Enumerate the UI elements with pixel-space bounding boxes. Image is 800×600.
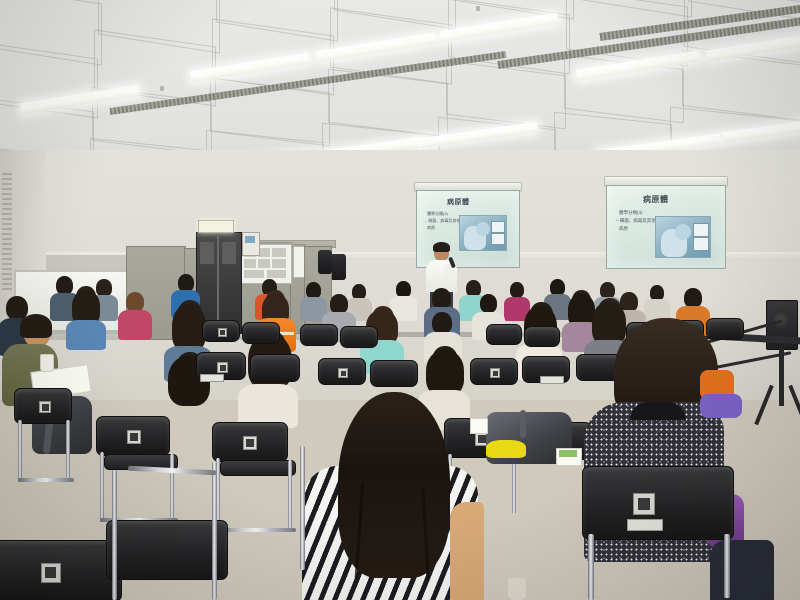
chair-back[interactable] (318, 358, 366, 385)
chair-back[interactable] (212, 422, 288, 462)
chair-back[interactable] (0, 540, 122, 600)
chair-leg (18, 420, 22, 482)
attendee-body (700, 394, 742, 418)
collar (630, 402, 686, 420)
left-slide-title: 病原體 (447, 197, 470, 207)
chair-back[interactable] (370, 360, 418, 387)
right-slide-line3: 病原 (619, 226, 628, 233)
attendee-tweed-sweater (584, 318, 774, 600)
chair-leg (588, 534, 594, 600)
door-window (222, 242, 236, 264)
paper-cup (508, 578, 526, 600)
seminar-room-photo: 病原體 體學分類(4) – 細菌、病毒及其他微生物感染性 病原 病原體 體學分類… (0, 0, 800, 600)
shoulder-skin (450, 502, 484, 600)
left-slide-image (459, 215, 507, 251)
control-panel-screen (245, 236, 255, 243)
chair-leg (212, 462, 217, 600)
chair-label-plate (200, 374, 224, 382)
chair-back[interactable] (106, 520, 228, 580)
backpack-strap (520, 410, 526, 438)
chair-leg (66, 420, 70, 480)
chair-leg (288, 460, 292, 530)
right-slide-image (655, 216, 711, 258)
chair-back[interactable] (14, 388, 72, 424)
long-dark-hair (338, 392, 450, 578)
chair-seat[interactable] (220, 460, 296, 476)
chair-label-plate (540, 376, 564, 384)
chair-leg (724, 534, 730, 598)
chair-leg (170, 454, 174, 520)
exit-sign (198, 220, 234, 233)
chair-leg (112, 470, 117, 600)
left-slide-line1: 體學分類(4) (427, 211, 448, 217)
chair-leg (18, 478, 74, 482)
chair-back[interactable] (470, 358, 518, 385)
chair-back[interactable] (582, 466, 734, 540)
door-window (200, 242, 214, 264)
presenter-hair (433, 242, 450, 252)
paper-cup (40, 354, 54, 372)
right-projection-screen: 病原體 體學分類(4) – 細菌、病毒及其他微生物感染性 病原 (606, 185, 726, 269)
attendee-trousers (710, 540, 774, 600)
right-slide-line1: 體學分類(4) (619, 210, 643, 217)
attendee-striped-top (300, 392, 500, 600)
chair-leg (216, 528, 296, 532)
left-slide-line3: 病原 (427, 225, 435, 231)
chair-leg (300, 446, 305, 570)
right-slide-title: 病原體 (643, 194, 669, 205)
chair-back[interactable] (250, 354, 300, 382)
leaflet-graphic (559, 450, 577, 457)
